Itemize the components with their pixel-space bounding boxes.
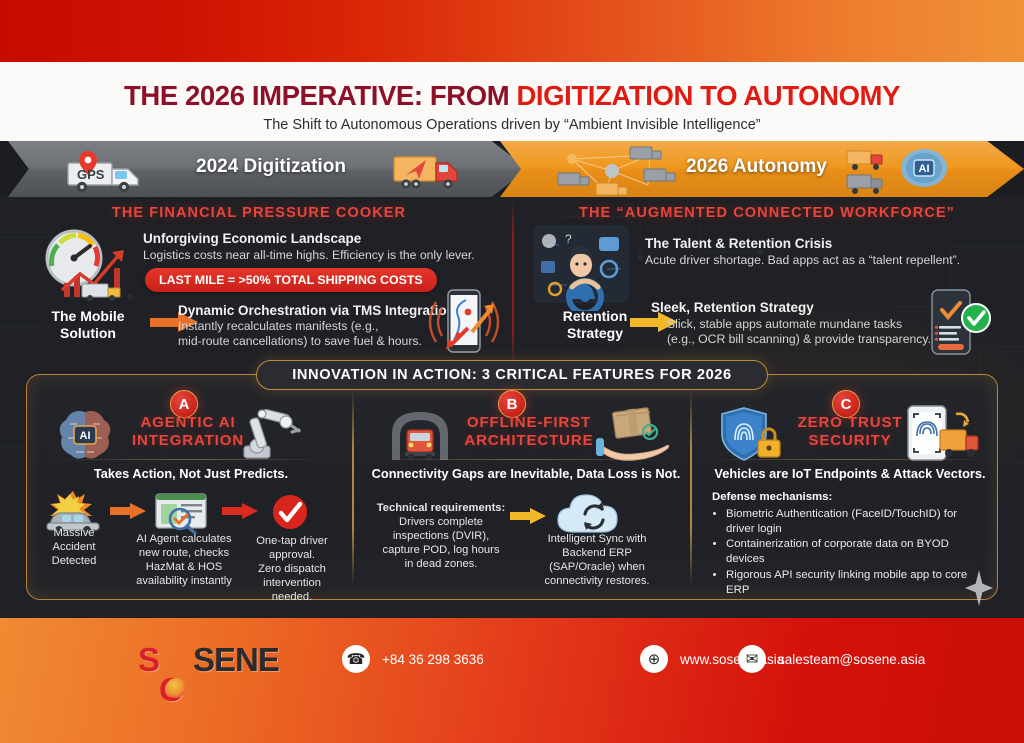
feature-b-sync-text: Intelligent Sync withBackend ERP(SAP/Ora… — [522, 532, 672, 588]
left-block2-text-line2: mid-route cancellations) to save fuel & … — [178, 334, 422, 350]
route-inspection-icon — [154, 492, 210, 534]
ai-brain-icon: AI — [898, 146, 950, 194]
navigation-truck-icon — [392, 151, 476, 193]
mobile-solution-label-line2: Solution — [34, 325, 142, 342]
footer-phone[interactable]: ☎ +84 36 298 3636 — [342, 645, 484, 673]
left-block1-title: Unforgiving Economic Landscape — [143, 231, 361, 246]
left-block2-text-line1: Instantly recalculates manifests (e.g., — [178, 319, 379, 335]
gps-badge-label: GPS — [77, 167, 104, 182]
footer-phone-text: +84 36 298 3636 — [382, 652, 484, 667]
feature-a-step-3: One-tap driverapproval.Zero dispatchinte… — [248, 534, 336, 604]
autonomous-truck-icon-2 — [846, 173, 892, 195]
timeline-banner: GPS 2024 Digitization — [0, 141, 1024, 197]
feature-c-title-line1: ZERO TRUST — [776, 414, 924, 432]
feature-c-title: ZERO TRUST SECURITY — [776, 414, 924, 449]
feature-c-rule — [706, 459, 990, 460]
page-title-part2: DIGITIZATION TO AUTONOMY — [516, 80, 900, 111]
feature-b-arrow — [510, 508, 546, 524]
feature-column-separator-2 — [690, 390, 692, 586]
feature-c-defense-item-1: Containerization of corporate data on BY… — [726, 537, 984, 567]
feature-c-title-line2: SECURITY — [776, 432, 924, 450]
banner-label-2026: 2026 Autonomy — [686, 156, 827, 178]
feature-b-subtitle: Connectivity Gaps are Inevitable, Data L… — [362, 466, 690, 481]
tunnel-truck-icon — [388, 408, 452, 462]
ai-brain-chip-icon: AI — [56, 408, 114, 462]
left-block2-title: Dynamic Orchestration via TMS Integratio… — [178, 303, 455, 318]
feature-a-arrow-2 — [222, 503, 258, 519]
feature-b-title-line1: OFFLINE-FIRST — [444, 414, 614, 432]
top-gradient-bar — [0, 0, 1024, 62]
left-block1-text: Logistics costs near all-time highs. Eff… — [143, 248, 475, 264]
innovation-band-title: INNOVATION IN ACTION: 3 CRITICAL FEATURE… — [256, 360, 768, 390]
panel-divider — [512, 200, 514, 365]
feature-column-separator-1 — [352, 390, 354, 586]
svg-text:AI: AI — [80, 430, 91, 442]
footer-email[interactable]: ✉ salesteam@sosene.asia — [738, 645, 925, 673]
right-panel-heading: THE “AUGMENTED CONNECTED WORKFORCE” — [532, 205, 1002, 221]
feature-b-title-line2: ARCHITECTURE — [444, 432, 614, 450]
logo-rest: SENE — [193, 641, 279, 678]
feature-a-step-1: MassiveAccidentDetected — [36, 526, 112, 568]
right-block2-text-line2: (e.g., OCR bill scanning) & provide tran… — [667, 332, 931, 348]
feature-b-requirements: Technical requirements: Drivers complete… — [366, 501, 516, 571]
logo-swirl-icon — [166, 678, 186, 698]
robotic-arm-icon — [240, 404, 310, 462]
connected-fleet-network-icon — [556, 143, 686, 197]
footer-bar — [0, 618, 1024, 743]
gauge-growth-truck-icon — [38, 228, 134, 302]
package-in-hand-icon — [594, 404, 670, 462]
page-title-part1: THE 2026 IMPERATIVE: FROM — [124, 80, 517, 111]
feature-a-arrow-1 — [110, 503, 146, 519]
banner-label-2024: 2024 Digitization — [196, 156, 346, 178]
feature-b-requirements-head: Technical requirements: — [377, 502, 506, 514]
one-tap-approval-check-icon — [270, 492, 310, 532]
footer-email-text: salesteam@sosene.asia — [778, 652, 925, 667]
mail-icon: ✉ — [738, 645, 766, 673]
page-title: THE 2026 IMPERATIVE: FROM DIGITIZATION T… — [0, 80, 1024, 112]
steering-wheel-icon — [556, 277, 614, 311]
last-mile-cost-badge: LAST MILE = >50% TOTAL SHIPPING COSTS — [145, 268, 437, 292]
feature-c-defense-item-2: Rigorous API security linking mobile app… — [726, 568, 984, 598]
infographic-page: THE 2026 IMPERATIVE: FROM DIGITIZATION T… — [0, 0, 1024, 743]
feature-b-rule — [380, 459, 670, 460]
right-block2-title: Sleek, Retention Strategy — [651, 300, 814, 315]
feature-a-rule — [56, 459, 326, 460]
feature-c-defense-item-0: Biometric Authentication (FaceID/TouchID… — [726, 507, 984, 537]
feature-b-title: OFFLINE-FIRST ARCHITECTURE — [444, 414, 614, 449]
mobile-solution-label-line1: The Mobile — [34, 308, 142, 325]
sosene-logo: S O SENE — [138, 641, 279, 679]
svg-text:AI: AI — [919, 163, 930, 175]
logo-s1: S — [138, 641, 159, 678]
feature-a-step-2: AI Agent calculatesnew route, checksHazM… — [125, 532, 243, 588]
right-block1-text: Acute driver shortage. Bad apps act as a… — [645, 253, 960, 269]
feature-a-subtitle: Takes Action, Not Just Predicts. — [36, 466, 346, 481]
feature-c-defense-list: Defense mechanisms: Biometric Authentica… — [712, 490, 984, 599]
mobile-approved-checklist-icon — [928, 288, 992, 358]
globe-icon: ⊕ — [640, 645, 668, 673]
phone-icon: ☎ — [342, 645, 370, 673]
svg-text:?: ? — [565, 232, 572, 246]
autonomous-truck-icon-1 — [846, 149, 892, 171]
mobile-solution-label: The Mobile Solution — [34, 308, 142, 342]
right-block1-title: The Talent & Retention Crisis — [645, 236, 832, 251]
mobile-biometric-truck-icon — [904, 404, 988, 462]
page-subtitle: The Shift to Autonomous Operations drive… — [0, 117, 1024, 133]
mobile-route-map-icon — [428, 288, 500, 358]
right-block2-text-line1: Slick, stable apps automate mundane task… — [667, 317, 902, 333]
feature-c-defense-head: Defense mechanisms: — [712, 490, 984, 505]
left-panel-heading: THE FINANCIAL PRESSURE COOKER — [24, 205, 494, 221]
feature-c-subtitle: Vehicles are IoT Endpoints & Attack Vect… — [700, 466, 1000, 481]
